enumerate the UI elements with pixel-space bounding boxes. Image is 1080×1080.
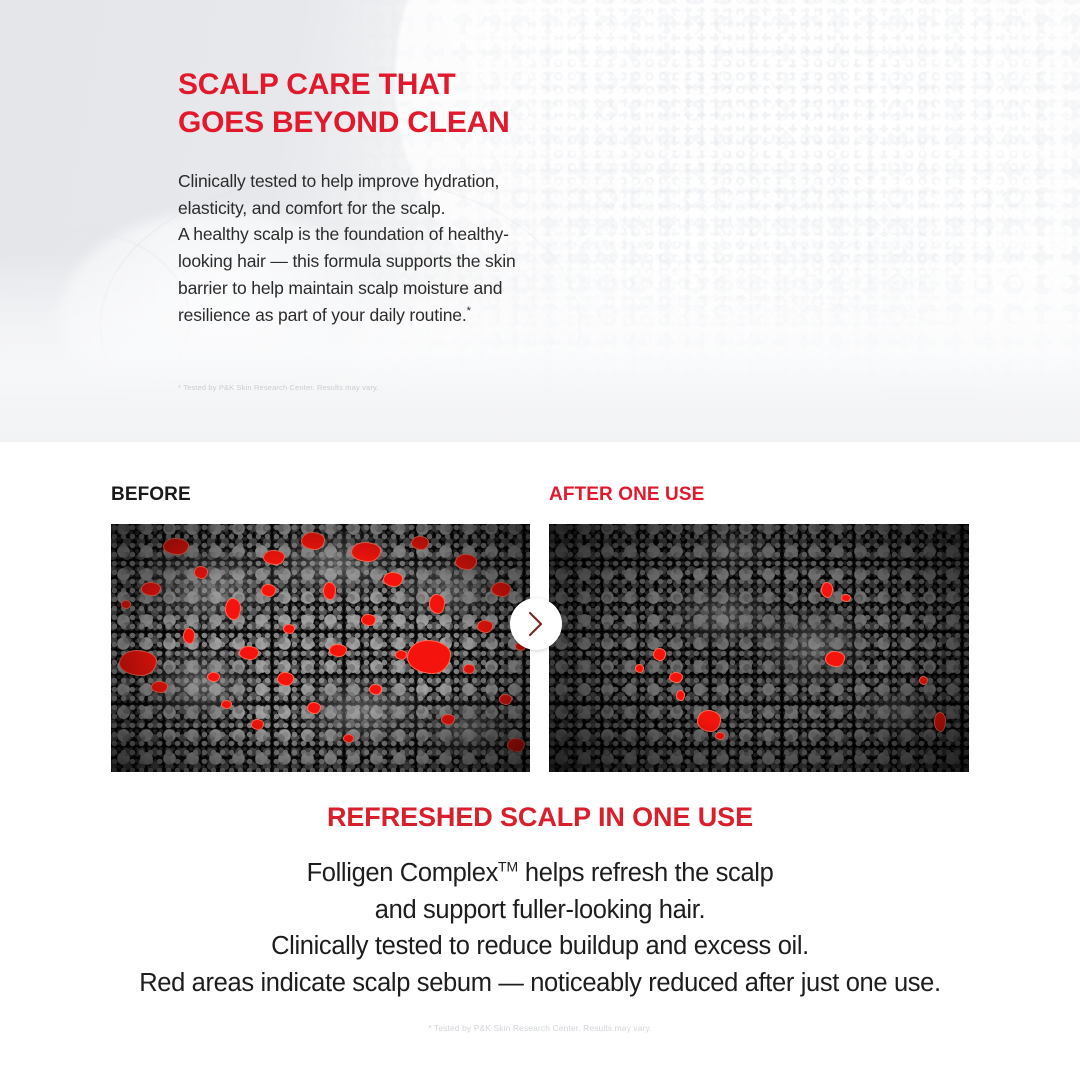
- scalp-microscope-image-after: [549, 524, 969, 772]
- bottom-headline: REFRESHED SCALP IN ONE USE: [0, 802, 1080, 833]
- comparison-labels-row: BEFORE AFTER ONE USE: [111, 484, 969, 512]
- hero-section: SCALP CARE THAT GOES BEYOND CLEAN Clinic…: [0, 0, 1080, 442]
- chevron-right-icon: [528, 611, 544, 637]
- bottom-body-text: Folligen ComplexTM helps refresh the sca…: [0, 855, 1080, 1002]
- after-label: AFTER ONE USE: [549, 484, 704, 506]
- bottom-line-4: Red areas indicate scalp sebum — noticea…: [0, 965, 1080, 1002]
- before-image-panel[interactable]: [111, 524, 530, 772]
- product-name: Folligen Complex: [307, 859, 498, 887]
- panel-vignette: [111, 524, 530, 772]
- after-image-panel[interactable]: [549, 524, 969, 772]
- hero-body-text: Clinically tested to help improve hydrat…: [178, 168, 608, 330]
- promo-page: SCALP CARE THAT GOES BEYOND CLEAN Clinic…: [0, 0, 1080, 1080]
- hero-copy-block: SCALP CARE THAT GOES BEYOND CLEAN Clinic…: [178, 66, 608, 329]
- before-label: BEFORE: [111, 484, 191, 506]
- hero-body-copy: Clinically tested to help improve hydrat…: [178, 171, 516, 326]
- bottom-line-1: Folligen ComplexTM helps refresh the sca…: [0, 855, 1080, 892]
- bottom-copy-section: REFRESHED SCALP IN ONE USE Folligen Comp…: [0, 772, 1080, 1033]
- hero-headline: SCALP CARE THAT GOES BEYOND CLEAN: [178, 66, 608, 142]
- comparison-panels: [111, 524, 969, 772]
- hero-disclaimer: * Tested by P&K Skin Research Center. Re…: [178, 383, 379, 392]
- next-slide-button[interactable]: [510, 598, 562, 650]
- bottom-line-2: and support fuller-looking hair.: [0, 892, 1080, 929]
- scalp-microscope-image-before: [111, 524, 530, 772]
- hero-footnote-marker: *: [467, 305, 471, 317]
- bottom-line-1-rest: helps refresh the scalp: [518, 859, 773, 887]
- trademark-symbol: TM: [498, 859, 518, 875]
- bottom-disclaimer: * Tested by P&K Skin Research Center. Re…: [0, 1023, 1080, 1033]
- liquid-pool-overlay: [0, 352, 1080, 442]
- bottom-line-3: Clinically tested to reduce buildup and …: [0, 928, 1080, 965]
- panel-vignette: [549, 524, 969, 772]
- before-after-section: BEFORE AFTER ONE USE: [0, 442, 1080, 772]
